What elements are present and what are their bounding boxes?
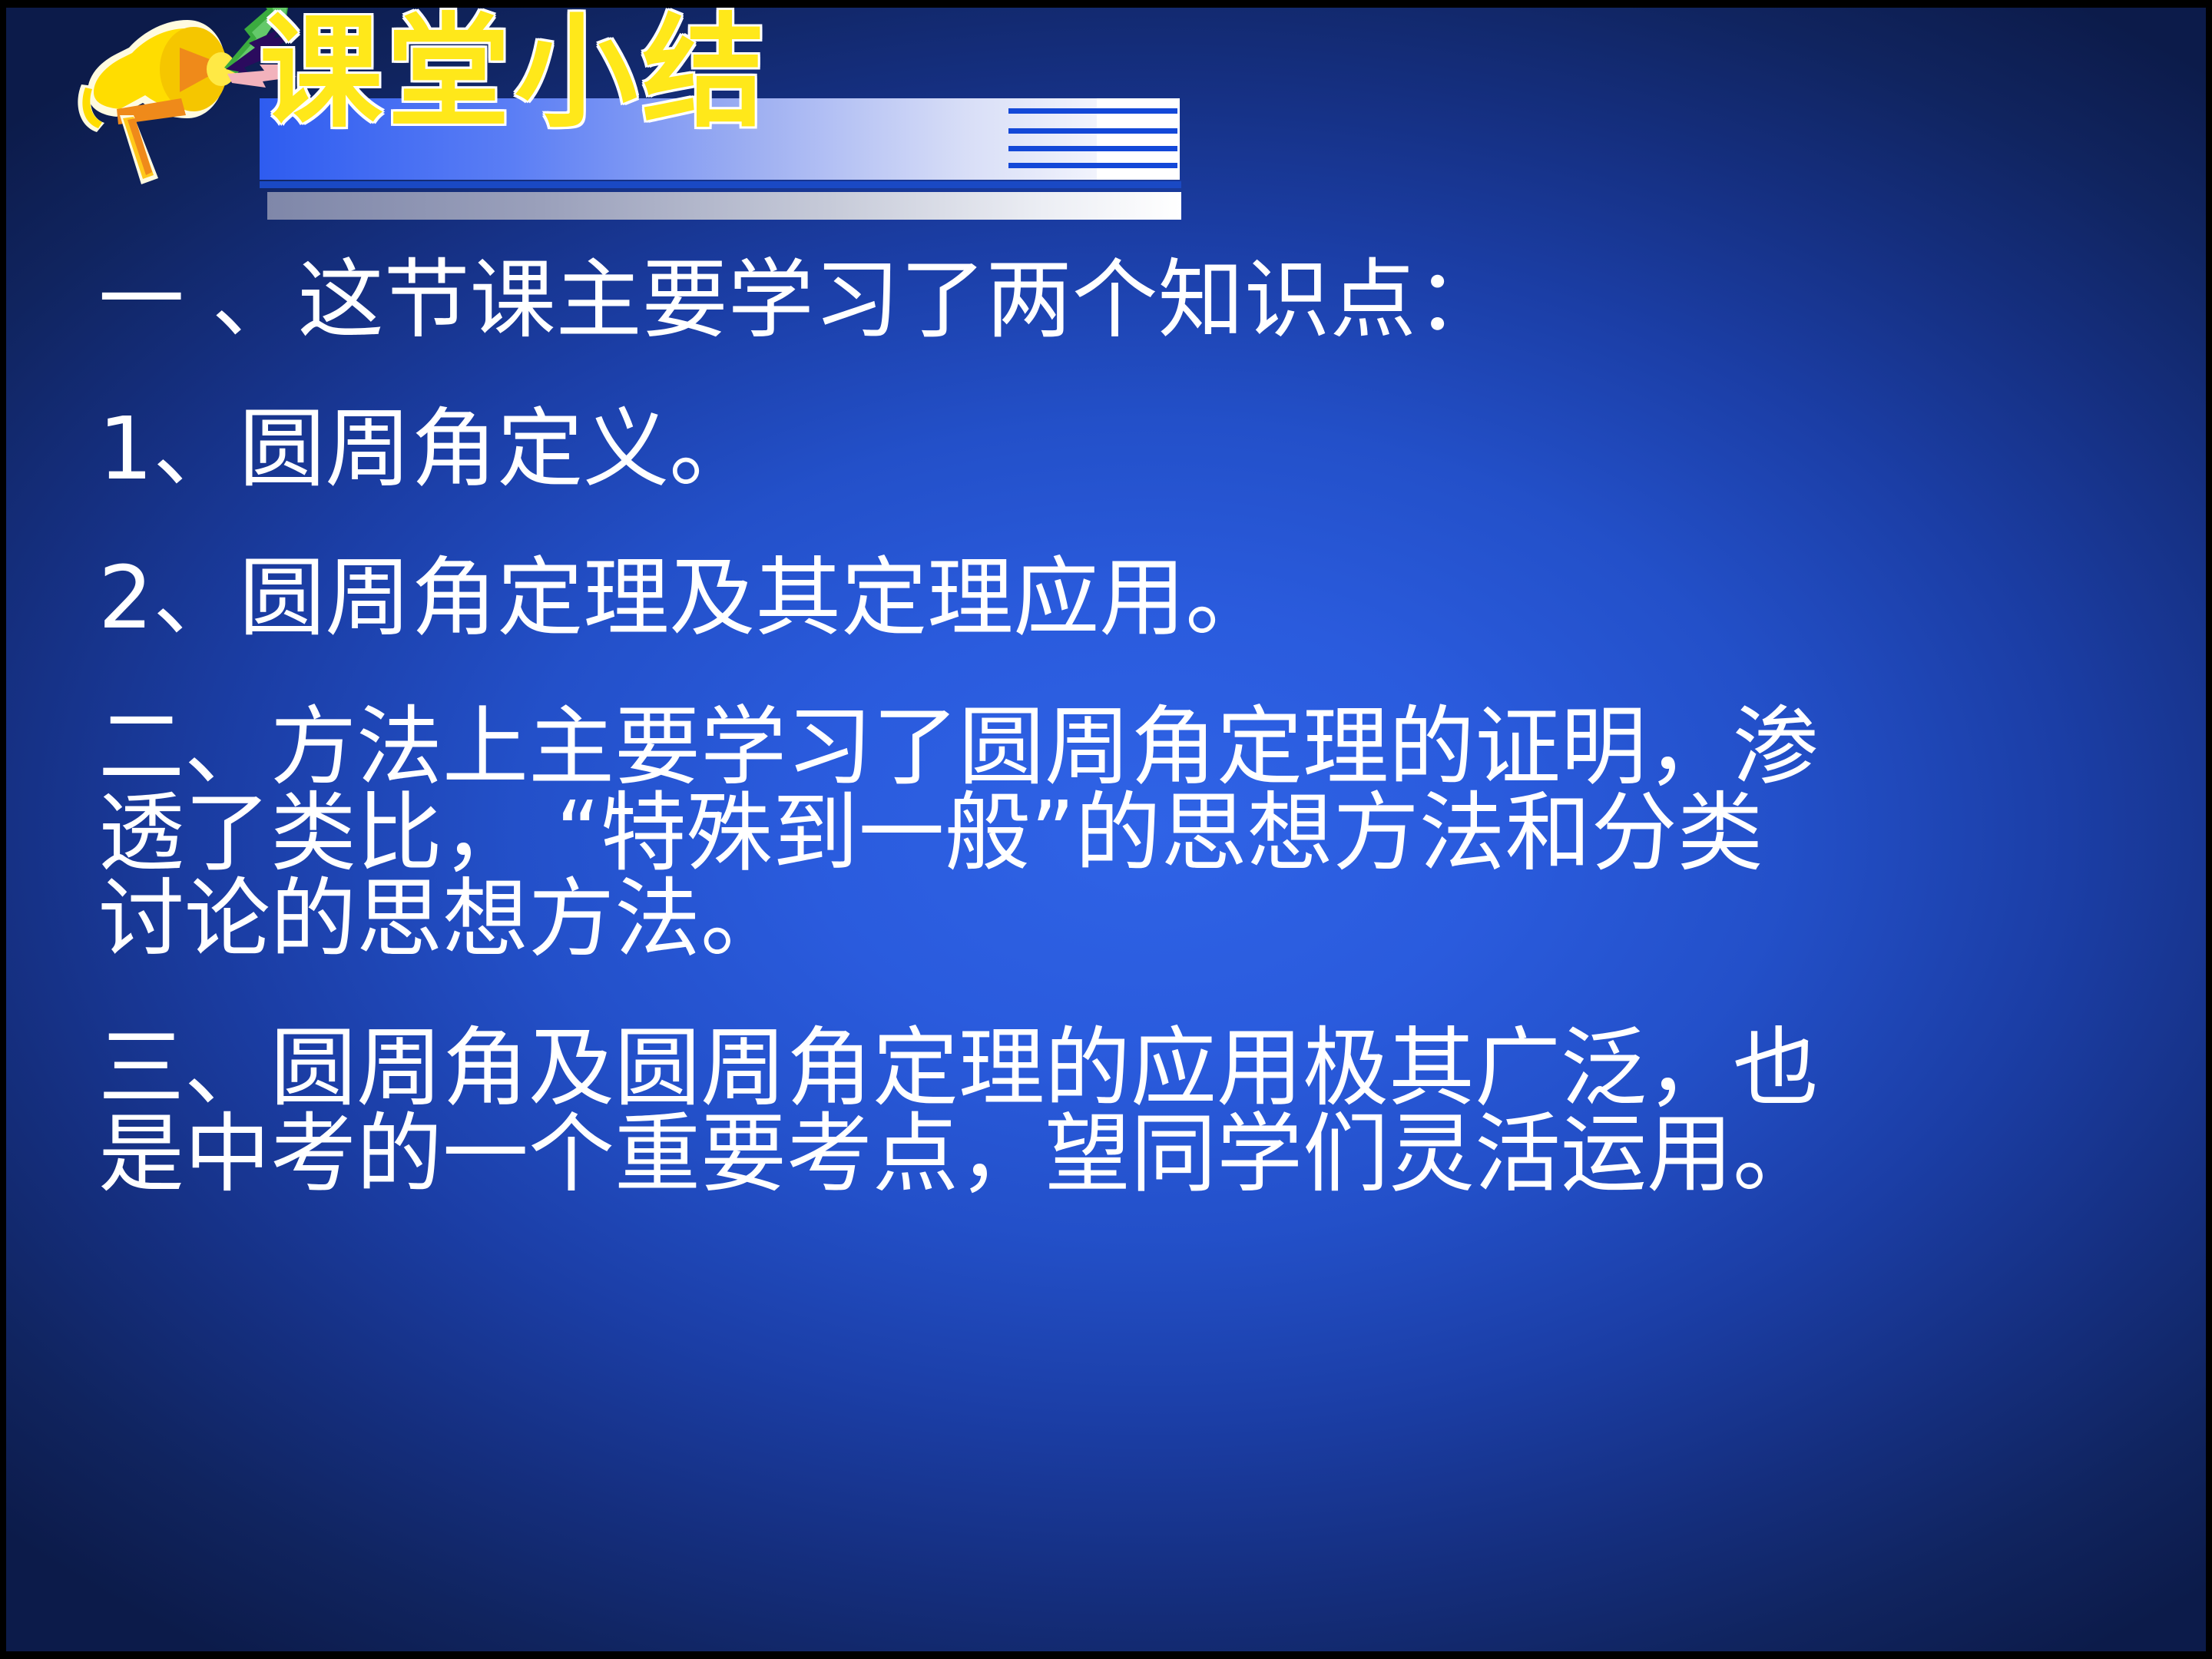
- body-paragraph-4-line-2: 透了类比， “特殊到一般”的思想方法和分类: [98, 790, 2172, 876]
- slide-canvas: 课堂小结 一 、这节课主要学习了两个知识点： 1、圆周角定义。 2、圆周角定理及…: [0, 0, 2212, 1659]
- body-paragraph-5-line-2: 是中考的一个重要考点，望同学们灵活运用。: [98, 1111, 2172, 1197]
- body-paragraph-5-line-1: 三、圆周角及圆周角定理的应用极其广泛，也: [98, 1025, 2172, 1111]
- title-decoration-line-1: [1008, 108, 1177, 114]
- body-paragraph-5: 三、圆周角及圆周角定理的应用极其广泛，也 是中考的一个重要考点，望同学们灵活运用…: [98, 1025, 2172, 1197]
- body-paragraph-2: 1、圆周角定义。: [98, 406, 2172, 492]
- title-decoration-gray-bar: [267, 192, 1181, 220]
- title-decoration-line-2: [1008, 128, 1177, 134]
- page-title: 课堂小结: [260, 8, 770, 138]
- body-paragraph-3: 2、圆周角定理及其定理应用。: [98, 555, 2172, 641]
- body-paragraph-4-line-3: 讨论的思想方法。: [98, 876, 2172, 962]
- title-decoration-line-4: [1008, 163, 1177, 168]
- body-paragraph-4: 二、方法上主要学习了圆周角定理的证明，渗 透了类比， “特殊到一般”的思想方法和…: [98, 704, 2172, 962]
- title-decoration-rule: [260, 181, 1181, 188]
- body-content: 一 、这节课主要学习了两个知识点： 1、圆周角定义。 2、圆周角定理及其定理应用…: [98, 257, 2172, 1197]
- title-zone: 课堂小结: [6, 8, 2212, 215]
- body-paragraph-4-line-1: 二、方法上主要学习了圆周角定理的证明，渗: [98, 704, 2172, 790]
- body-paragraph-1: 一 、这节课主要学习了两个知识点：: [98, 257, 2172, 343]
- title-decoration-line-3: [1008, 146, 1177, 151]
